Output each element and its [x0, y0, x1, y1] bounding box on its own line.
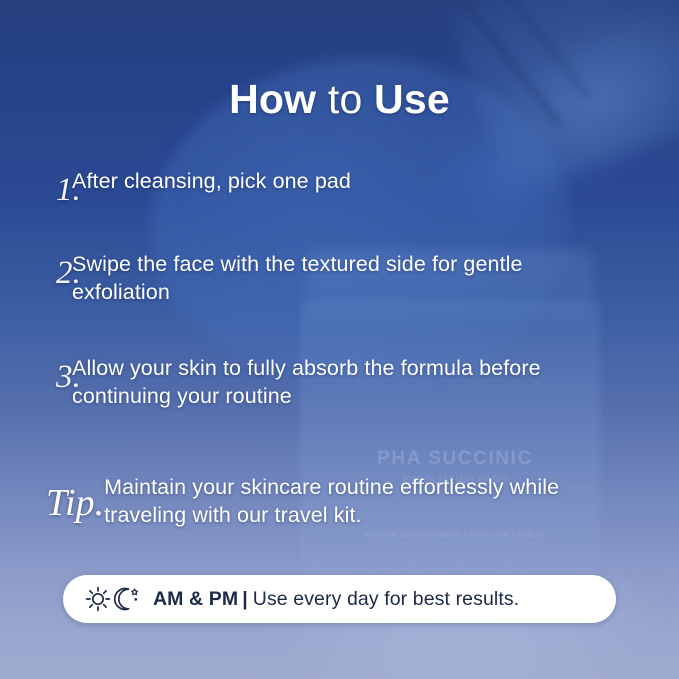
schedule-separator: |	[238, 588, 253, 610]
schedule-label: AM & PM	[153, 588, 238, 610]
step-number: 3.	[0, 361, 72, 394]
sun-icon	[83, 586, 113, 612]
schedule-text: AM & PM|Use every day for best results.	[153, 588, 519, 611]
title-word-how: How	[229, 76, 316, 122]
step-item: 1. After cleansing, pick one pad	[0, 168, 679, 201]
step-item: 2. Swipe the face with the textured side…	[0, 251, 679, 307]
usage-schedule-banner: AM & PM|Use every day for best results.	[63, 575, 616, 623]
step-number: 2.	[0, 257, 72, 290]
tip-text: Maintain your skincare routine effortles…	[104, 474, 679, 530]
step-text: After cleansing, pick one pad	[72, 168, 679, 196]
page-title: How to Use	[0, 79, 679, 120]
step-text: Allow your skin to fully absorb the form…	[72, 355, 679, 411]
how-to-use-poster: PHA SUCCINIC EXFOLIATING PADS • Gentle d…	[0, 0, 679, 679]
title-word-to: to	[328, 76, 363, 122]
step-number: 1.	[0, 174, 72, 207]
moon-stars-icon	[111, 586, 141, 612]
schedule-icons	[83, 586, 141, 612]
steps-list: 1. After cleansing, pick one pad 2. Swip…	[0, 168, 679, 411]
schedule-advice: Use every day for best results.	[253, 588, 519, 610]
tip-label: Tip.	[0, 484, 104, 522]
step-text: Swipe the face with the textured side fo…	[72, 251, 679, 307]
title-word-use: Use	[374, 76, 450, 122]
step-item: 3. Allow your skin to fully absorb the f…	[0, 355, 679, 411]
tip-block: Tip. Maintain your skincare routine effo…	[0, 474, 679, 530]
